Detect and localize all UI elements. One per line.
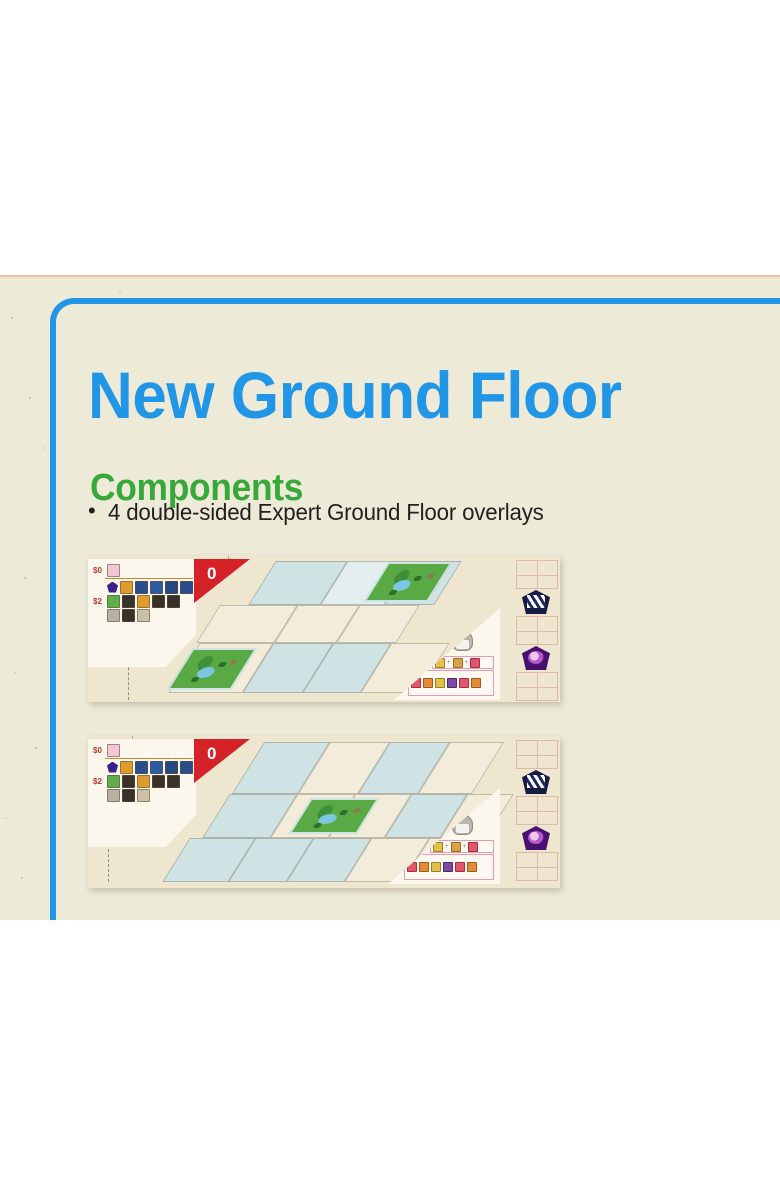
mini-token-red — [468, 842, 478, 852]
violet-bonus-badge-icon — [522, 826, 550, 850]
score-cell — [516, 616, 558, 645]
mini-token-yellow — [435, 678, 445, 688]
price-label: $0 — [93, 746, 105, 755]
score-track-column — [514, 558, 558, 700]
score-flag-value: 0 — [207, 565, 216, 582]
swatch-green — [107, 775, 120, 788]
divider — [105, 758, 193, 759]
cost-row: $0 — [93, 564, 193, 576]
mini-token-orange — [471, 678, 481, 688]
swatch-dark — [122, 609, 135, 622]
swatch-blue — [150, 761, 163, 774]
swatch-blue — [165, 581, 178, 594]
swatch-orange — [137, 775, 150, 788]
swatch-dark — [152, 775, 165, 788]
page-title: New Ground Floor — [88, 362, 622, 428]
score-cell — [516, 796, 558, 825]
cost-row: $0 — [93, 744, 193, 756]
navy-bonus-badge-icon — [522, 770, 550, 794]
swatch-dark — [122, 789, 135, 802]
cost-row — [93, 789, 193, 801]
swatch-grey — [107, 609, 120, 622]
swatch-tan — [137, 609, 150, 622]
price-label: $2 — [93, 597, 105, 606]
components-list-item: • 4 double-sided Expert Ground Floor ove… — [88, 499, 557, 525]
components-item-label: 4 double-sided Expert Ground Floor overl… — [108, 499, 544, 525]
swatch-grey — [107, 789, 120, 802]
bullet-icon: • — [88, 499, 96, 523]
swatch-purple — [107, 582, 118, 593]
swatch-dark — [167, 595, 180, 608]
cost-reference-panel: $0 $2 — [88, 559, 196, 667]
swatch-orange — [120, 581, 133, 594]
cost-row — [93, 761, 193, 773]
score-cell — [516, 740, 558, 769]
swatch-blue — [180, 761, 193, 774]
score-cell — [516, 560, 558, 589]
cost-row — [93, 609, 193, 621]
bonus-row-top: + + — [430, 840, 494, 853]
cost-row — [93, 581, 193, 593]
swatch-orange — [120, 761, 133, 774]
divider — [105, 578, 193, 579]
cost-row: $2 — [93, 775, 193, 787]
violet-bonus-badge-icon — [522, 646, 550, 670]
score-cell — [516, 672, 558, 701]
bonus-row-top: + + — [432, 656, 494, 669]
swatch-blue — [150, 581, 163, 594]
swatch-green — [107, 595, 120, 608]
mini-token-tan — [453, 658, 463, 668]
mini-token-orange — [467, 862, 477, 872]
mini-token-orange — [419, 862, 429, 872]
swatch-blue — [180, 581, 193, 594]
swatch-blue — [135, 581, 148, 594]
navy-bonus-badge-icon — [522, 590, 550, 614]
mini-token-red — [455, 862, 465, 872]
swatch-tan — [137, 789, 150, 802]
cost-reference-panel: $0 $2 — [88, 739, 196, 847]
score-cell — [516, 852, 558, 881]
swatch-blue — [135, 761, 148, 774]
price-label: $2 — [93, 777, 105, 786]
swatch-dark — [152, 595, 165, 608]
board-overlay-side-a[interactable]: + + $0 — [88, 556, 560, 702]
page-trim-line — [0, 275, 780, 278]
mini-token-orange — [423, 678, 433, 688]
mini-token-yellow — [431, 862, 441, 872]
swatch-dark — [167, 775, 180, 788]
price-label: $0 — [93, 566, 105, 575]
mini-token-red — [470, 658, 480, 668]
score-flag-value: 0 — [207, 745, 216, 762]
swatch-pink — [107, 744, 120, 757]
swatch-blue — [165, 761, 178, 774]
mini-token-purple — [443, 862, 453, 872]
swatch-purple — [107, 762, 118, 773]
mini-token-purple — [447, 678, 457, 688]
swatch-dark — [122, 595, 135, 608]
meeple-icon — [452, 630, 473, 651]
swatch-orange — [137, 595, 150, 608]
swatch-pink — [107, 564, 120, 577]
board-overlay-side-b[interactable]: + + $0 — [88, 736, 560, 888]
score-track-column — [514, 738, 558, 886]
swatch-dark — [122, 775, 135, 788]
cost-row: $2 — [93, 595, 193, 607]
mini-token-tan — [451, 842, 461, 852]
mini-token-red — [459, 678, 469, 688]
score-flag: 0 — [194, 559, 250, 603]
